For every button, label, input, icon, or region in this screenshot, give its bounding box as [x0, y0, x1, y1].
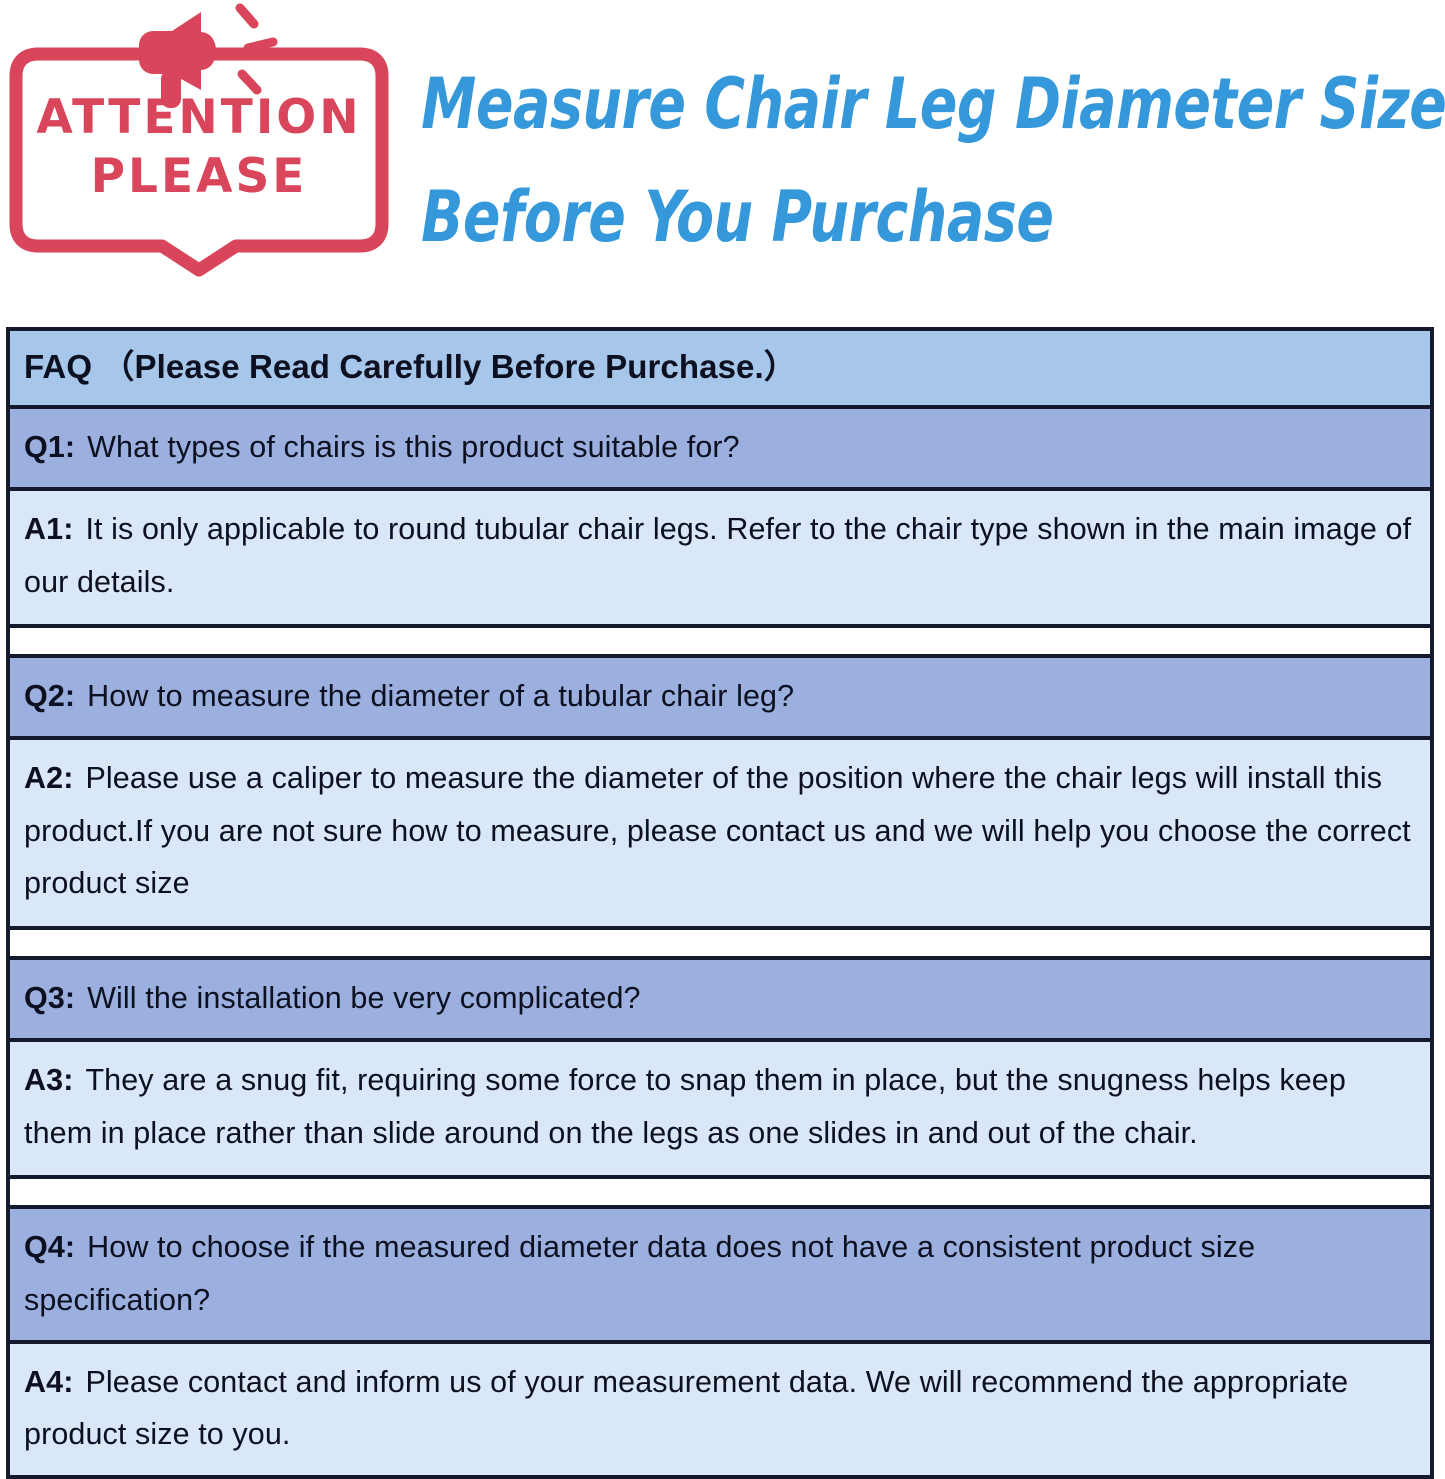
faq-question-label: Q3: [24, 981, 75, 1015]
faq-question-row: Q3:Will the installation be very complic… [10, 960, 1430, 1042]
page-title: Measure Chair Leg Diameter Size Before Y… [400, 0, 1445, 275]
faq-question-text: How to measure the diameter of a tubular… [87, 679, 794, 713]
faq-answer-text: It is only applicable to round tubular c… [24, 512, 1411, 598]
faq-answer-label: A1: [24, 512, 73, 546]
faq-heading: FAQ （Please Read Carefully Before Purcha… [10, 331, 1430, 409]
faq-row-spacer [10, 1175, 1430, 1209]
faq-answer-label: A3: [24, 1063, 73, 1097]
attention-badge: ATTENTION PLEASE [0, 0, 400, 290]
faq-answer-text: Please use a caliper to measure the diam… [24, 761, 1411, 900]
faq-question-text: What types of chairs is this product sui… [87, 430, 740, 464]
faq-question-label: Q2: [24, 679, 75, 713]
faq-answer-label: A4: [24, 1365, 73, 1399]
faq-question-text: Will the installation be very complicate… [87, 981, 640, 1015]
faq-item: Q3:Will the installation be very complic… [10, 960, 1430, 1175]
faq-item: Q1:What types of chairs is this product … [10, 409, 1430, 624]
page-title-line-2: Before You Purchase [421, 161, 1445, 274]
faq-question-text: How to choose if the measured diameter d… [24, 1230, 1255, 1316]
faq-answer-text: They are a snug fit, requiring some forc… [24, 1063, 1346, 1149]
faq-answer-text: Please contact and inform us of your mea… [24, 1365, 1348, 1451]
faq-answer-row: A1:It is only applicable to round tubula… [10, 491, 1430, 624]
faq-item: Q2:How to measure the diameter of a tubu… [10, 658, 1430, 926]
badge-line-please: PLEASE [8, 149, 390, 204]
faq-row-spacer [10, 926, 1430, 960]
faq-row-spacer [10, 624, 1430, 658]
badge-line-attention: ATTENTION [8, 90, 390, 145]
badge-text: ATTENTION PLEASE [8, 90, 390, 205]
faq-answer-row: A4:Please contact and inform us of your … [10, 1344, 1430, 1475]
page-title-line-1: Measure Chair Leg Diameter Size [421, 48, 1445, 161]
faq-question-label: Q1: [24, 430, 75, 464]
page-header: ATTENTION PLEASE Measure Chair Leg Diame… [0, 0, 1445, 300]
faq-table: FAQ （Please Read Carefully Before Purcha… [6, 327, 1434, 1479]
faq-answer-row: A2:Please use a caliper to measure the d… [10, 740, 1430, 925]
faq-question-row: Q1:What types of chairs is this product … [10, 409, 1430, 491]
faq-question-row: Q4:How to choose if the measured diamete… [10, 1209, 1430, 1344]
faq-question-row: Q2:How to measure the diameter of a tubu… [10, 658, 1430, 740]
faq-answer-label: A2: [24, 761, 73, 795]
faq-item: Q4:How to choose if the measured diamete… [10, 1209, 1430, 1475]
faq-answer-row: A3:They are a snug fit, requiring some f… [10, 1042, 1430, 1175]
faq-question-label: Q4: [24, 1230, 75, 1264]
